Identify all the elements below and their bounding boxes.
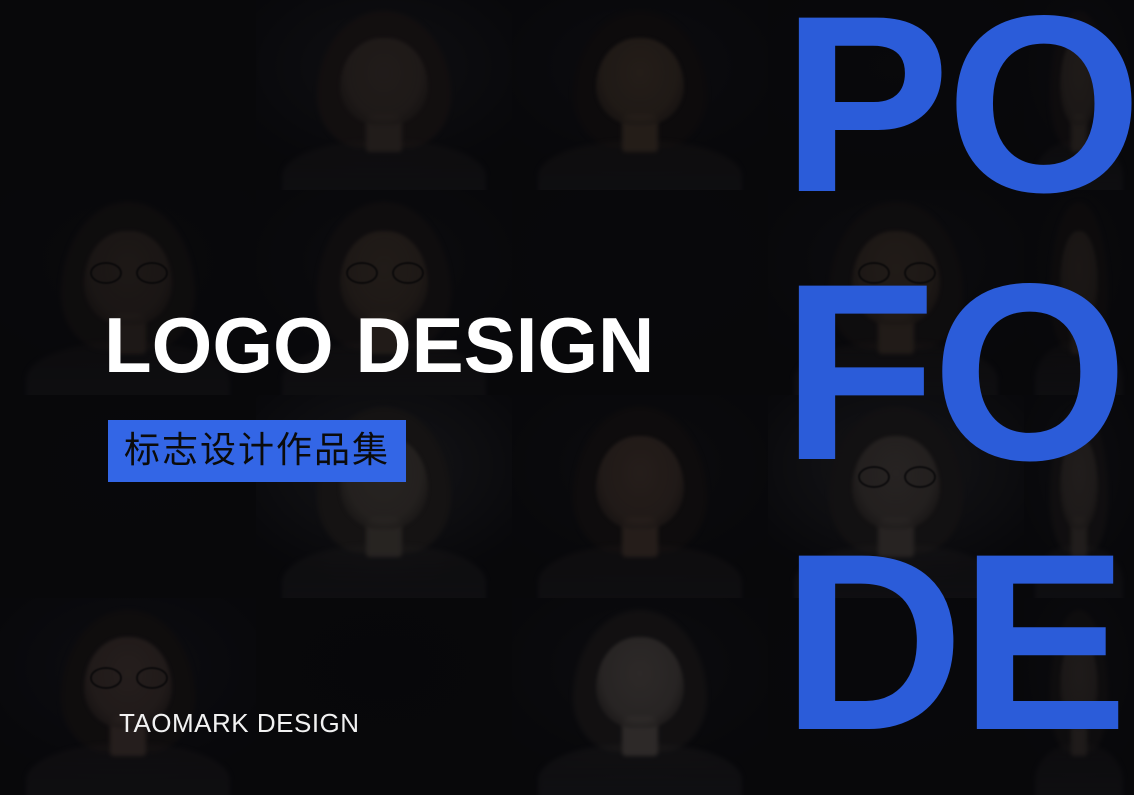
cell-r1c4 bbox=[768, 0, 1024, 190]
portrait-image bbox=[1024, 190, 1134, 395]
cell-r1c5 bbox=[1024, 0, 1134, 190]
portrait-image bbox=[0, 598, 256, 795]
cell-r2c4 bbox=[768, 190, 1024, 395]
glasses-icon bbox=[858, 466, 890, 488]
portrait-image bbox=[768, 0, 1024, 190]
glasses-icon bbox=[136, 667, 168, 689]
glasses-icon bbox=[392, 262, 424, 284]
portrait-image bbox=[768, 598, 1024, 795]
cell-r2c5 bbox=[1024, 190, 1134, 395]
cell-r3c5 bbox=[1024, 395, 1134, 598]
poster-canvas: PO FO DE LOGO DESIGN 标志设计作品集 TAOMARK DES… bbox=[0, 0, 1134, 795]
page-title: LOGO DESIGN bbox=[104, 306, 654, 384]
portrait-image bbox=[0, 0, 256, 190]
subtitle-badge: 标志设计作品集 bbox=[108, 420, 406, 482]
cell-r4c4 bbox=[768, 598, 1024, 795]
portrait-image bbox=[1024, 598, 1134, 795]
cell-r4c3 bbox=[512, 598, 768, 795]
glasses-icon bbox=[90, 262, 122, 284]
cell-r4c5 bbox=[1024, 598, 1134, 795]
brand-footer: TAOMARK DESIGN bbox=[119, 708, 360, 739]
cell-r3c4 bbox=[768, 395, 1024, 598]
glasses-icon bbox=[346, 262, 378, 284]
glasses-icon bbox=[904, 466, 936, 488]
glasses-icon bbox=[858, 262, 890, 284]
subtitle-badge-label: 标志设计作品集 bbox=[124, 433, 390, 469]
portrait-image bbox=[512, 395, 768, 598]
portrait-image bbox=[512, 598, 768, 795]
portrait-image bbox=[768, 395, 1024, 598]
glasses-icon bbox=[136, 262, 168, 284]
portrait-image bbox=[768, 190, 1024, 395]
portrait-image bbox=[1024, 395, 1134, 598]
portrait-image bbox=[512, 0, 768, 190]
cell-r4c2 bbox=[256, 598, 512, 795]
cell-r1c3 bbox=[512, 0, 768, 190]
portrait-photo-grid bbox=[0, 0, 1134, 795]
glasses-icon bbox=[904, 262, 936, 284]
cell-r4c1 bbox=[0, 598, 256, 795]
glasses-icon bbox=[90, 667, 122, 689]
cell-r1c1 bbox=[0, 0, 256, 190]
cell-r1c2 bbox=[256, 0, 512, 190]
cell-r3c3 bbox=[512, 395, 768, 598]
portrait-image bbox=[256, 598, 512, 795]
portrait-image bbox=[1024, 0, 1134, 190]
portrait-image bbox=[256, 0, 512, 190]
